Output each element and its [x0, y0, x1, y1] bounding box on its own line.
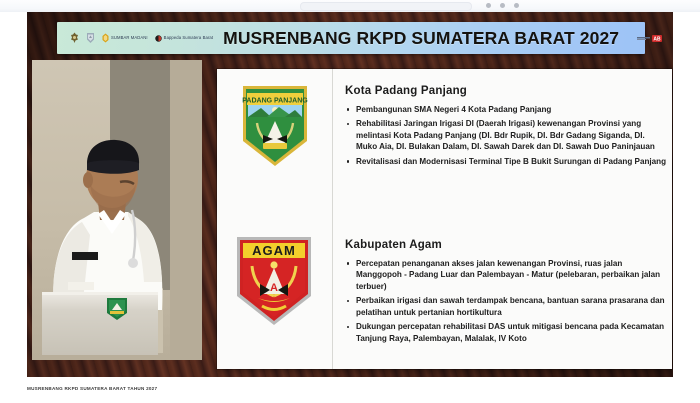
emblem-column: PADANG PANJANG — [217, 69, 332, 369]
bappeda-label: Bappeda Sumatera Barat — [164, 35, 213, 40]
chrome-dot-icon[interactable] — [486, 3, 491, 8]
card-divider — [332, 69, 333, 369]
banner-left-logos: SUMBAR MADANI Bappeda Sumatera Barat — [70, 32, 213, 44]
list-item: Percepatan penanganan akses jalan kewena… — [345, 258, 667, 292]
section-padang-panjang: Kota Padang Panjang Pembangunan SMA Nege… — [345, 85, 667, 170]
bappeda-logo: Bappeda Sumatera Barat — [155, 34, 213, 43]
bullet-list: Percepatan penanganan akses jalan kewena… — [345, 258, 667, 344]
svg-text:AB: AB — [654, 36, 662, 42]
garuda-logo — [70, 32, 79, 44]
podium — [42, 292, 158, 355]
padang-panjang-emblem-label: PADANG PANJANG — [242, 98, 308, 105]
agam-emblem: AGAM A — [232, 234, 316, 333]
address-bar[interactable] — [300, 2, 472, 11]
screenshot-stage: SUMBAR MADANI Bappeda Sumatera Barat MUS… — [0, 0, 700, 403]
padang-panjang-emblem: PADANG PANJANG — [239, 83, 311, 174]
slide-title-banner: SUMBAR MADANI Bappeda Sumatera Barat MUS… — [57, 22, 645, 54]
sumbar-madani-label: SUMBAR MADANI — [111, 35, 148, 40]
chrome-dot-icon[interactable] — [514, 3, 519, 8]
browser-chrome-strip — [0, 0, 700, 12]
sumbar-madani-mark-icon — [102, 33, 109, 43]
west-sumatra-emblem — [104, 296, 130, 322]
list-item: Pembangunan SMA Negeri 4 Kota Padang Pan… — [345, 104, 667, 115]
sumbar-madani-logo: SUMBAR MADANI — [102, 33, 148, 43]
list-item: Dukungan percepatan rehabilitasi DAS unt… — [345, 321, 667, 344]
chrome-dot-icon[interactable] — [500, 3, 505, 8]
svg-text:A: A — [270, 282, 278, 294]
speaker-scene — [32, 60, 202, 360]
section-kabupaten-agam: Kabupaten Agam Percepatan penanganan aks… — [345, 239, 667, 347]
slide-text-column: Kota Padang Panjang Pembangunan SMA Nege… — [335, 69, 672, 369]
partner-logo: AB — [637, 34, 671, 43]
list-item: Revitalisasi dan Modernisasi Terminal Ti… — [345, 156, 667, 167]
slide-content-card: PADANG PANJANG — [217, 69, 672, 369]
section-title: Kabupaten Agam — [345, 239, 667, 251]
section-title: Kota Padang Panjang — [345, 85, 667, 97]
list-item: Perbaikan irigasi dan sawah terdampak be… — [345, 295, 667, 318]
page-title: MUSRENBANG RKPD SUMATERA BARAT 2027 — [213, 28, 637, 49]
bappeda-mark-icon — [155, 34, 162, 43]
west-sumatra-provincial-logo — [86, 32, 95, 44]
photo-caption: MUSRENBANG RKPD SUMATERA BARAT TAHUN 202… — [27, 386, 157, 391]
bullet-list: Pembangunan SMA Negeri 4 Kota Padang Pan… — [345, 104, 667, 167]
banner-right-logos: AB — [637, 33, 673, 43]
presentation-photo: SUMBAR MADANI Bappeda Sumatera Barat MUS… — [27, 12, 673, 377]
list-item: Rehabilitasi Jaringan Irigasi DI (Daerah… — [345, 118, 667, 152]
agam-emblem-label: AGAM — [252, 243, 296, 258]
